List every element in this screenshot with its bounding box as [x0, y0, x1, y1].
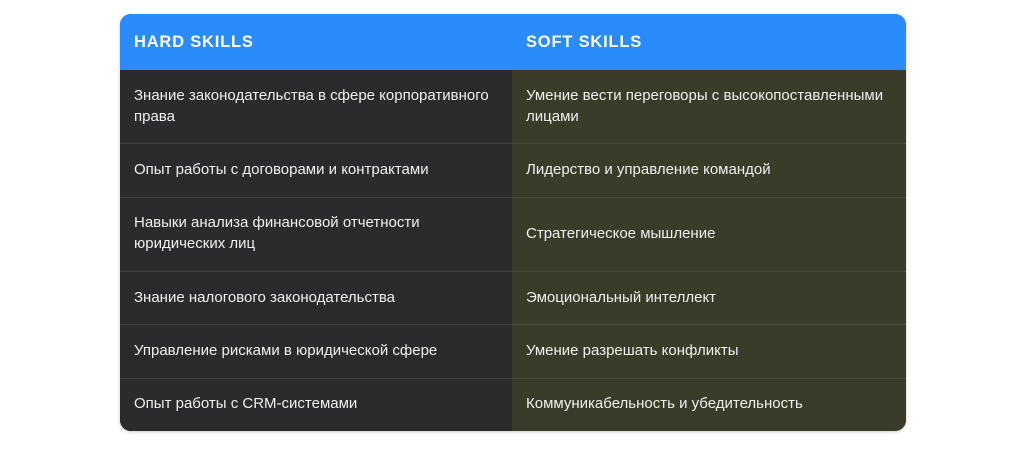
cell-soft-skill: Эмоциональный интеллект	[512, 272, 906, 325]
cell-text: Опыт работы с CRM-системами	[134, 394, 357, 415]
table-row: Управление рисками в юридической сфере У…	[120, 325, 906, 378]
table-row: Знание налогового законодательства Эмоци…	[120, 272, 906, 325]
cell-hard-skill: Навыки анализа финансовой отчетности юри…	[120, 198, 512, 272]
cell-soft-skill: Стратегическое мышление	[512, 198, 906, 272]
cell-hard-skill: Знание законодательства в сфере корпорат…	[120, 70, 512, 144]
cell-text: Знание налогового законодательства	[134, 288, 395, 309]
cell-text: Опыт работы с договорами и контрактами	[134, 160, 429, 181]
cell-text: Эмоциональный интеллект	[526, 288, 716, 309]
cell-soft-skill: Умение разрешать конфликты	[512, 325, 906, 378]
cell-text: Навыки анализа финансовой отчетности юри…	[134, 213, 494, 254]
table-row: Опыт работы с договорами и контрактами Л…	[120, 144, 906, 197]
cell-soft-skill: Умение вести переговоры с высокопоставле…	[512, 70, 906, 144]
table-row: Навыки анализа финансовой отчетности юри…	[120, 198, 906, 272]
table-body: Знание законодательства в сфере корпорат…	[120, 70, 906, 431]
cell-soft-skill: Лидерство и управление командой	[512, 144, 906, 197]
cell-hard-skill: Управление рисками в юридической сфере	[120, 325, 512, 378]
cell-text: Лидерство и управление командой	[526, 160, 771, 181]
cell-soft-skill: Коммуникабельность и убедительность	[512, 379, 906, 431]
cell-text: Умение вести переговоры с высокопоставле…	[526, 86, 888, 127]
cell-hard-skill: Опыт работы с CRM-системами	[120, 379, 512, 431]
skills-comparison-table: HARD SKILLS SOFT SKILLS Знание законодат…	[120, 14, 906, 431]
table-row: Знание законодательства в сфере корпорат…	[120, 70, 906, 144]
column-header-hard-skills: HARD SKILLS	[120, 14, 512, 70]
cell-text: Управление рисками в юридической сфере	[134, 341, 437, 362]
page-root: HARD SKILLS SOFT SKILLS Знание законодат…	[0, 0, 1024, 450]
column-header-soft-skills: SOFT SKILLS	[512, 14, 906, 70]
cell-hard-skill: Знание налогового законодательства	[120, 272, 512, 325]
table-row: Опыт работы с CRM-системами Коммуникабел…	[120, 379, 906, 431]
cell-text: Коммуникабельность и убедительность	[526, 394, 803, 415]
cell-hard-skill: Опыт работы с договорами и контрактами	[120, 144, 512, 197]
cell-text: Знание законодательства в сфере корпорат…	[134, 86, 494, 127]
cell-text: Стратегическое мышление	[526, 224, 715, 245]
cell-text: Умение разрешать конфликты	[526, 341, 739, 362]
table-header-row: HARD SKILLS SOFT SKILLS	[120, 14, 906, 70]
